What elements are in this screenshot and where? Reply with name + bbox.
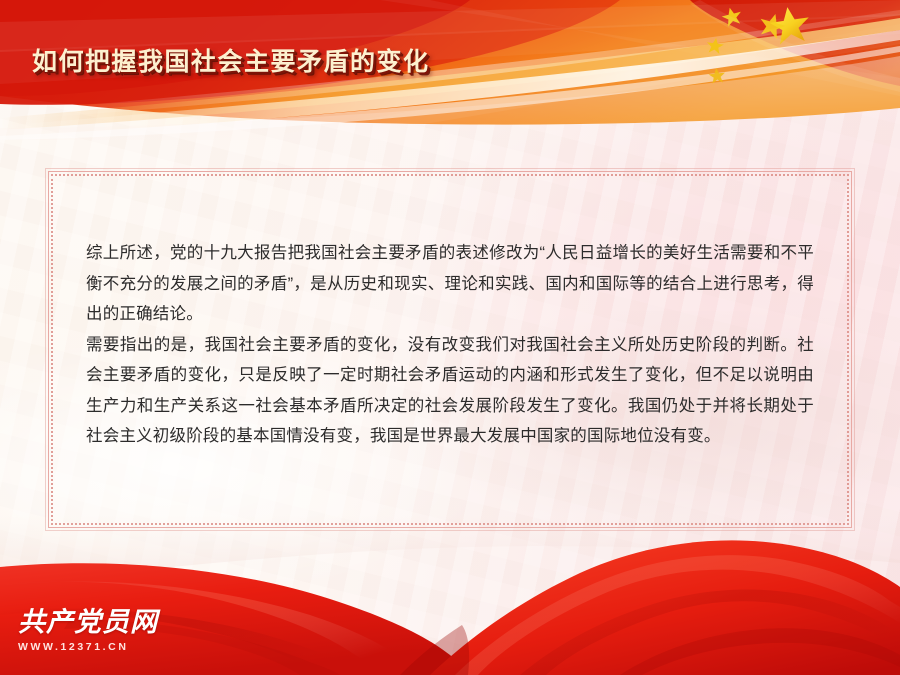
paragraph-2: 需要指出的是，我国社会主要矛盾的变化，没有改变我们对我国社会主义所处历史阶段的判… xyxy=(86,330,814,452)
paragraph-1: 综上所述，党的十九大报告把我国社会主要矛盾的表述修改为“人民日益增长的美好生活需… xyxy=(86,238,814,330)
logo-wordmark: 共产党员网 xyxy=(18,609,168,636)
header-banner: 如何把握我国社会主要矛盾的变化 xyxy=(0,0,900,140)
slide-canvas: 如何把握我国社会主要矛盾的变化 综上所述，党的十九大报告把我国社会主要矛盾的表述… xyxy=(0,0,900,675)
page-title: 如何把握我国社会主要矛盾的变化 xyxy=(32,50,430,75)
logo-url: WWW.12371.CN xyxy=(18,641,168,653)
body-text-block: 综上所述，党的十九大报告把我国社会主要矛盾的表述修改为“人民日益增长的美好生活需… xyxy=(86,238,814,452)
site-logo[interactable]: 共产党员网 WWW.12371.CN xyxy=(18,609,168,653)
